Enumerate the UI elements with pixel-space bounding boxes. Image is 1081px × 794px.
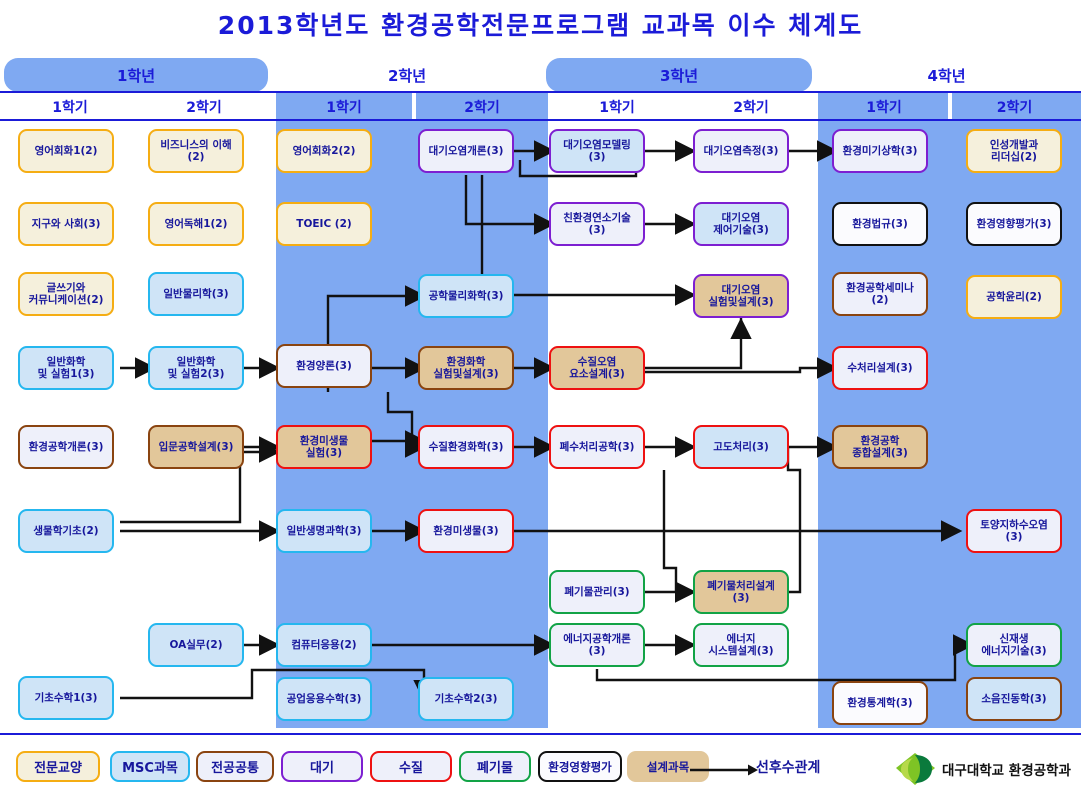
course-box-c39[interactable]: 환경미기상학(3) [832, 129, 928, 173]
course-box-c47[interactable]: 공학윤리(2) [966, 275, 1062, 319]
course-box-c06[interactable]: 생물학기초(2) [18, 509, 114, 553]
course-box-c04[interactable]: 일반화학및 실험1(3) [18, 346, 114, 390]
course-box-c25[interactable]: 환경미생물(3) [418, 509, 514, 553]
course-box-c48[interactable]: 토양지하수오염(3) [966, 509, 1062, 553]
course-box-c15[interactable]: TOEIC (2) [276, 202, 372, 246]
course-box-c44[interactable]: 환경통계학(3) [832, 681, 928, 725]
course-box-c29[interactable]: 수질오염요소설계(3) [549, 346, 645, 390]
course-box-c41[interactable]: 환경공학세미나(2) [832, 272, 928, 316]
course-box-c33[interactable]: 대기오염측정(3) [693, 129, 789, 173]
course-box-c14[interactable]: 영어회화2(2) [276, 129, 372, 173]
course-box-c09[interactable]: 영어독해1(2) [148, 202, 244, 246]
course-box-c20[interactable]: 공업응용수학(3) [276, 677, 372, 721]
course-box-c37[interactable]: 폐기물처리설계(3) [693, 570, 789, 614]
course-box-c11[interactable]: 일반화학및 실험2(3) [148, 346, 244, 390]
course-box-c34[interactable]: 대기오염제어기술(3) [693, 202, 789, 246]
course-box-c35[interactable]: 대기오염실험및설계(3) [693, 274, 789, 318]
course-box-c19[interactable]: 컴퓨터응용(2) [276, 623, 372, 667]
course-box-c43[interactable]: 환경공학종합설계(3) [832, 425, 928, 469]
course-box-c45[interactable]: 인성개발과리더십(2) [966, 129, 1062, 173]
course-box-c07[interactable]: 기초수학1(3) [18, 676, 114, 720]
course-box-c26[interactable]: 기초수학2(3) [418, 677, 514, 721]
course-box-c16[interactable]: 환경양론(3) [276, 344, 372, 388]
course-box-c05[interactable]: 환경공학개론(3) [18, 425, 114, 469]
course-box-c01[interactable]: 영어회화1(2) [18, 129, 114, 173]
course-box-c24[interactable]: 수질환경화학(3) [418, 425, 514, 469]
course-box-c23[interactable]: 환경화학실험및설계(3) [418, 346, 514, 390]
course-box-c42[interactable]: 수처리설계(3) [832, 346, 928, 390]
course-box-c30[interactable]: 폐수처리공학(3) [549, 425, 645, 469]
course-box-c38[interactable]: 에너지시스템설계(3) [693, 623, 789, 667]
prerequisite-connector-lines [0, 0, 1081, 794]
course-box-c12[interactable]: 입문공학설계(3) [148, 425, 244, 469]
course-box-c32[interactable]: 에너지공학개론(3) [549, 623, 645, 667]
course-box-c28[interactable]: 친환경연소기술(3) [549, 202, 645, 246]
course-box-c18[interactable]: 일반생명과학(3) [276, 509, 372, 553]
course-box-c22[interactable]: 공학물리화학(3) [418, 274, 514, 318]
course-box-c27[interactable]: 대기오염모델링(3) [549, 129, 645, 173]
course-box-c46[interactable]: 환경영향평가(3) [966, 202, 1062, 246]
course-box-c03[interactable]: 글쓰기와커뮤니케이션(2) [18, 272, 114, 316]
course-box-c17[interactable]: 환경미생물실험(3) [276, 425, 372, 469]
course-box-c36[interactable]: 고도처리(3) [693, 425, 789, 469]
course-box-c40[interactable]: 환경법규(3) [832, 202, 928, 246]
course-box-c02[interactable]: 지구와 사회(3) [18, 202, 114, 246]
course-box-c21[interactable]: 대기오염개론(3) [418, 129, 514, 173]
course-box-c50[interactable]: 소음진동학(3) [966, 677, 1062, 721]
legend-arrow-icon [690, 762, 758, 778]
course-box-c08[interactable]: 비즈니스의 이해(2) [148, 129, 244, 173]
course-box-c10[interactable]: 일반물리학(3) [148, 272, 244, 316]
course-box-c31[interactable]: 폐기물관리(3) [549, 570, 645, 614]
course-box-c13[interactable]: OA실무(2) [148, 623, 244, 667]
course-box-c49[interactable]: 신재생에너지기술(3) [966, 623, 1062, 667]
